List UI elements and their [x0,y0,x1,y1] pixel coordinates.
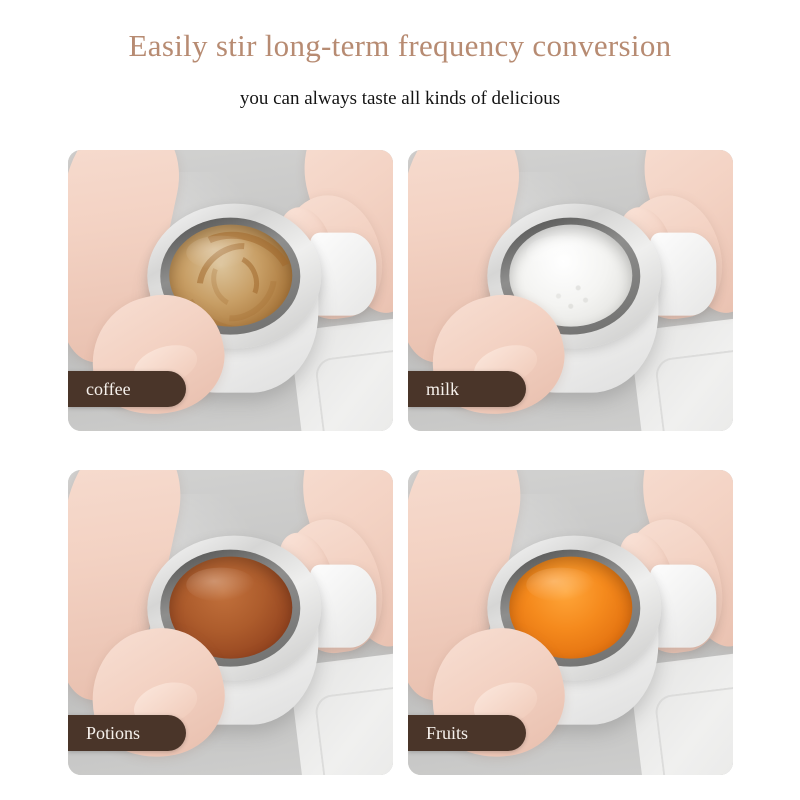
gallery-cell-fruits[interactable]: Fruits [408,470,733,775]
header: Easily stir long-term frequency conversi… [0,0,800,110]
beverage-gallery-grid: coffee [68,150,733,775]
gallery-cell-milk[interactable]: milk [408,150,733,431]
page-subtitle: you can always taste all kinds of delici… [0,64,800,110]
label-badge-fruits: Fruits [408,715,526,751]
label-badge-coffee: coffee [68,371,186,407]
product-feature-page: Easily stir long-term frequency conversi… [0,0,800,800]
badge-text: milk [426,379,459,400]
badge-text: Potions [86,723,140,744]
gallery-cell-coffee[interactable]: coffee [68,150,393,431]
label-badge-potions: Potions [68,715,186,751]
badge-text: coffee [86,379,131,400]
gallery-cell-potions[interactable]: Potions [68,470,393,775]
page-title: Easily stir long-term frequency conversi… [0,0,800,64]
badge-text: Fruits [426,723,468,744]
label-badge-milk: milk [408,371,526,407]
